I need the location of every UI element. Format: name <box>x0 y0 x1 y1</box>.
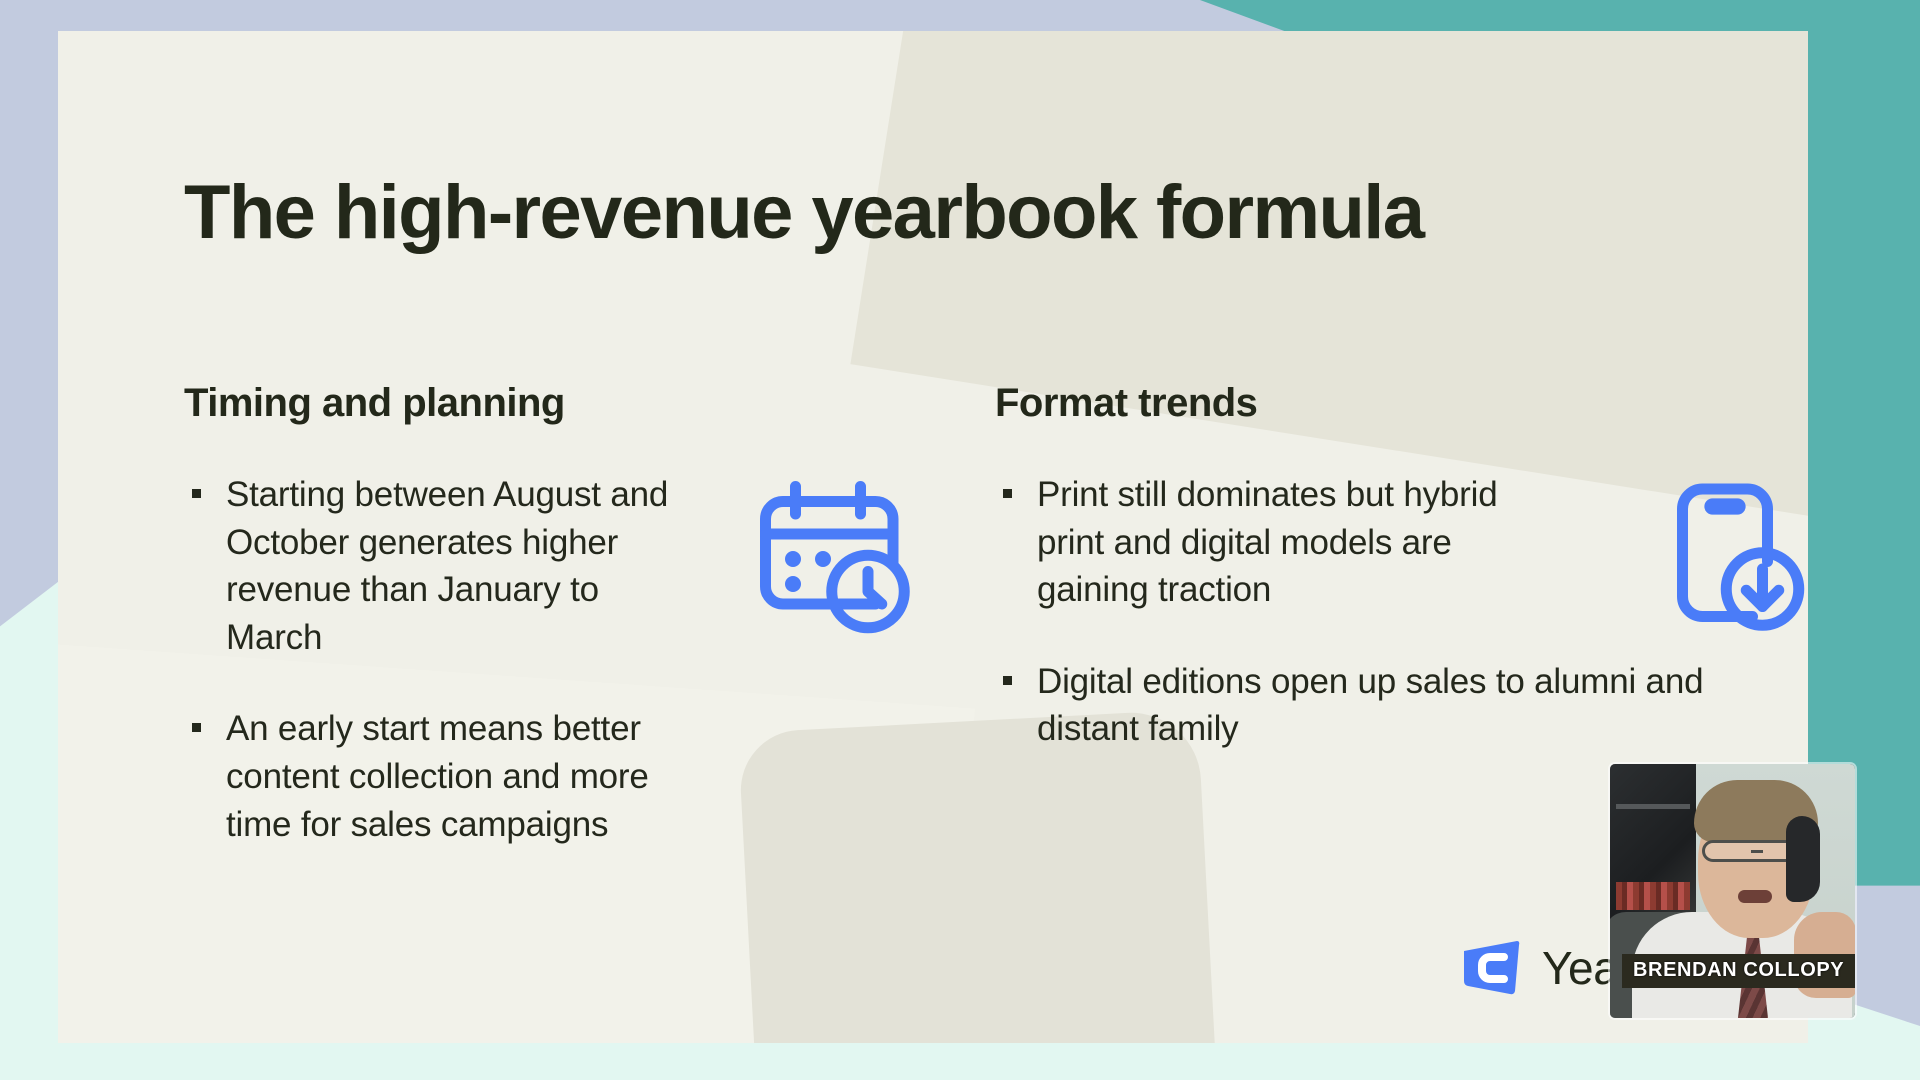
video-presenter-mouth <box>1738 890 1772 903</box>
presenter-name-badge: BRENDAN COLLOPY <box>1622 954 1855 988</box>
slide-title: The high-revenue yearbook formula <box>184 173 1423 253</box>
column-heading-right: Format trends <box>995 381 1755 425</box>
phone-download-icon <box>1670 479 1805 634</box>
calendar-clock-icon <box>753 479 918 634</box>
bullet-list-right: Print still dominates but hybrid print a… <box>995 471 1755 753</box>
column-format-trends: Format trends Print still dominates but … <box>995 381 1755 753</box>
yearbook-logo-mark-icon <box>1460 939 1522 997</box>
list-item: Print still dominates but hybrid print a… <box>995 471 1565 614</box>
video-presenter-headset <box>1786 816 1820 902</box>
slide-content: The high-revenue yearbook formula Timing… <box>58 31 1808 1043</box>
presentation-viewport: The high-revenue yearbook formula Timing… <box>0 0 1920 1080</box>
list-item: An early start means better content coll… <box>184 705 674 848</box>
slide-canvas: The high-revenue yearbook formula Timing… <box>58 31 1808 1043</box>
list-item: Starting between August and October gene… <box>184 471 674 661</box>
list-item: Digital editions open up sales to alumni… <box>995 658 1715 753</box>
video-bookshelf <box>1610 764 1696 934</box>
presenter-video-thumbnail[interactable]: BRENDAN COLLOPY <box>1610 764 1855 1018</box>
column-heading-left: Timing and planning <box>184 381 924 425</box>
